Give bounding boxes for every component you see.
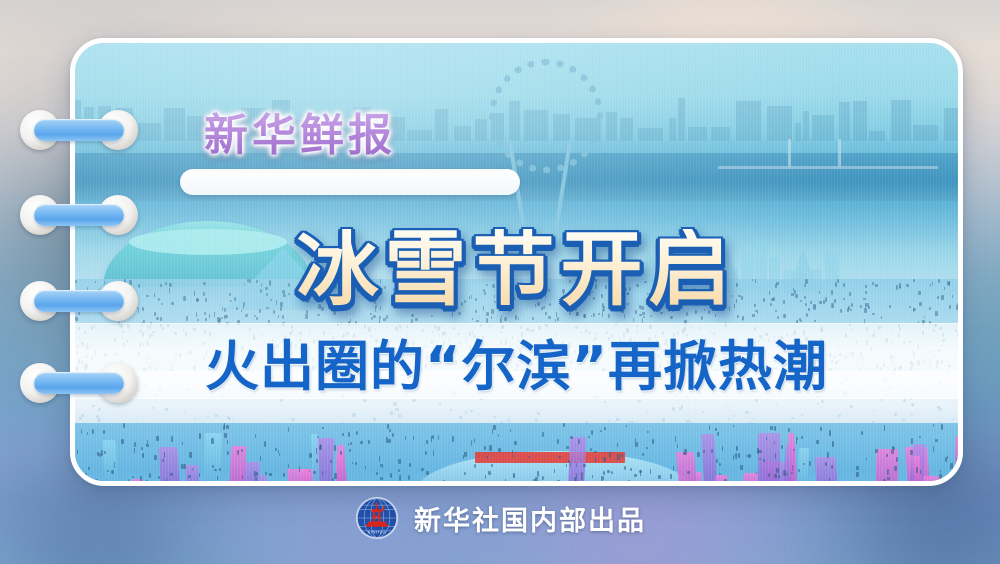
footer-label: 新华社国内部出品: [414, 499, 646, 538]
subtitle-text: 火出圈的“尔滨”再掀热潮: [205, 322, 828, 401]
ring-bar: [34, 290, 124, 312]
headline: 冰雪节开启: [75, 229, 958, 311]
spiral-ring-1: [20, 110, 138, 150]
spiral-ring-2: [20, 195, 138, 235]
ring-bar: [34, 372, 124, 394]
logo-ring-text: XINHUA: [368, 530, 387, 535]
ring-bar: [34, 204, 124, 226]
kicker-block: 新华鲜报: [180, 99, 540, 197]
footer: XINHUA 新华社国内部出品: [0, 492, 1000, 544]
spiral-ring-4: [20, 363, 138, 403]
ring-bar: [34, 119, 124, 141]
kicker-label: 新华鲜报: [204, 99, 396, 163]
headline-text: 冰雪节开启: [296, 229, 736, 311]
xinhua-logo-icon: XINHUA: [354, 495, 400, 541]
subtitle-band: 火出圈的“尔滨”再掀热潮: [75, 323, 958, 399]
poster-canvas: 新华鲜报 冰雪节开启 火出圈的“尔滨”再掀热潮: [0, 0, 1000, 564]
kicker-underline-bar: [180, 169, 520, 195]
poster-card: 新华鲜报 冰雪节开启 火出圈的“尔滨”再掀热潮: [70, 38, 963, 486]
spiral-ring-3: [20, 281, 138, 321]
